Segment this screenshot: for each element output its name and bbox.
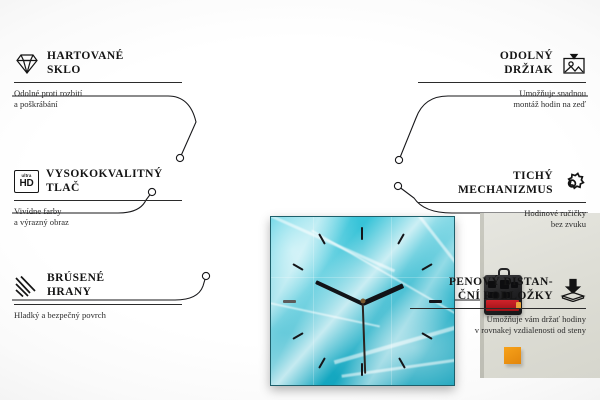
beveled-edges-icon: [14, 274, 40, 298]
clock-hands-cap: [360, 299, 365, 304]
feature-desc-line2: a výrazný obraz: [14, 217, 182, 228]
foam-spacer-pad: [504, 347, 521, 364]
feature-desc-line1: Hladký a bezpečný povrch: [14, 310, 182, 321]
feature-divider: [14, 304, 182, 305]
feature-divider: [418, 82, 586, 83]
feature-desc-line1: Umožňuje vám držať hodiny: [410, 314, 586, 325]
feature-divider: [418, 202, 586, 203]
feature-desc-line2: bez zvuku: [418, 219, 586, 230]
foam-spacer-icon: [560, 278, 586, 302]
picture-frame-hanger-icon: [560, 52, 586, 76]
feature-divider: [410, 308, 586, 309]
feature-title-line2: MECHANIZMUS: [458, 184, 553, 198]
hd-badge-large-text: HD: [19, 179, 33, 189]
feature-desc-line1: Vivídne farby: [14, 206, 182, 217]
feature-title-line1: TICHÝ: [458, 170, 553, 184]
feature-desc-line1: Umožňuje snadnou: [418, 88, 586, 99]
gear-icon: [560, 172, 586, 196]
feature-foam-spacers[interactable]: PENOVÝ DISTAN- ČNÍ PODLOŽKY Umožňuje vám…: [410, 276, 586, 336]
feature-desc-line2: montáž hodin na zeď: [418, 99, 586, 110]
feature-hardened-glass[interactable]: HARTOVANÉ SKLO Odolné proti rozbití a po…: [14, 50, 182, 110]
feature-divider: [14, 200, 182, 201]
feature-title-line2: DRŽIAK: [500, 64, 553, 78]
feature-title-line1: HARTOVANÉ: [47, 50, 124, 64]
feature-divider: [14, 82, 182, 83]
diamond-icon: [14, 52, 40, 76]
feature-title-line2: TLAČ: [46, 182, 163, 196]
feature-title-line1: BRÚSENÉ: [47, 272, 104, 286]
feature-desc-line2: a poškrábání: [14, 99, 182, 110]
feature-title-line2: ČNÍ PODLOŽKY: [449, 290, 553, 304]
infographic-canvas: HARTOVANÉ SKLO Odolné proti rozbití a po…: [0, 0, 600, 400]
feature-title-line2: HRANY: [47, 286, 104, 300]
feature-title-line2: SKLO: [47, 64, 124, 78]
feature-desc-line1: Hodinové ručičky: [418, 208, 586, 219]
hotspot-hanger: [395, 156, 402, 163]
hotspot-mechanism: [394, 182, 401, 189]
feature-title-line1: PENOVÝ DISTAN-: [449, 276, 553, 290]
ultra-hd-badge-icon: ultra HD: [14, 170, 39, 193]
feature-durable-hanger[interactable]: ODOLNÝ DRŽIAK Umožňuje snadnou montáž ho…: [418, 50, 586, 110]
feature-title-line1: ODOLNÝ: [500, 50, 553, 64]
feature-silent-mechanism[interactable]: TICHÝ MECHANIZMUS Hodinové ručičky bez z…: [418, 170, 586, 230]
feature-beveled-edges[interactable]: BRÚSENÉ HRANY Hladký a bezpečný povrch: [14, 272, 182, 321]
feature-desc-line2: v rovnakej vzdialenosti od steny: [410, 325, 586, 336]
feature-title-line1: VYSOKOKVALITNÝ: [46, 168, 163, 182]
feature-high-quality-print[interactable]: ultra HD VYSOKOKVALITNÝ TLAČ Vivídne far…: [14, 168, 182, 228]
feature-desc-line1: Odolné proti rozbití: [14, 88, 182, 99]
